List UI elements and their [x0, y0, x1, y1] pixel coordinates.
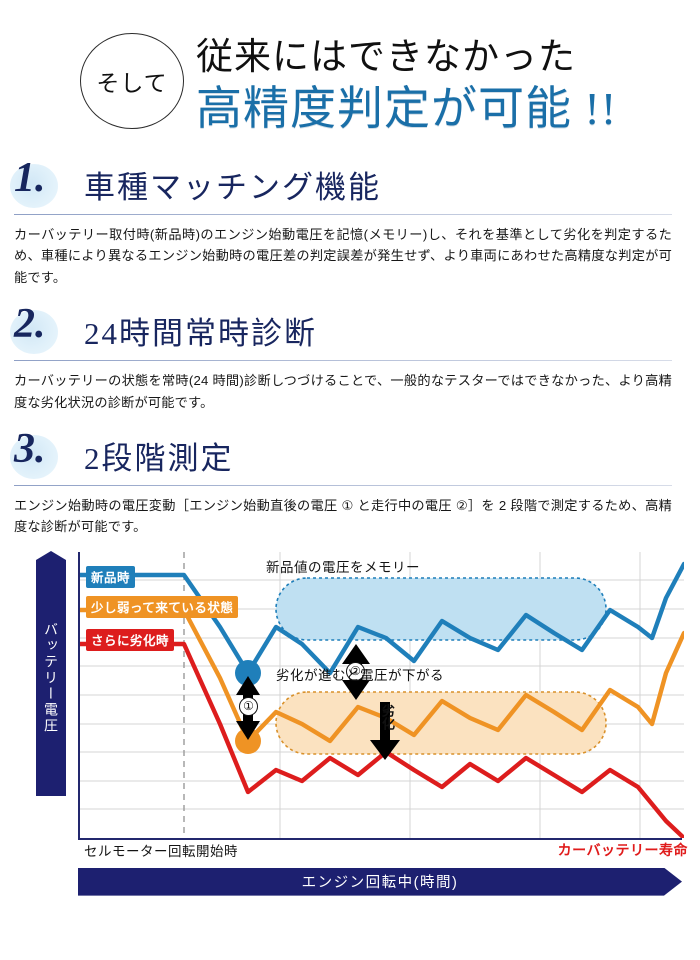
section-2-heading: 2. 24時間常時診断: [0, 306, 686, 358]
battery-life-note: カーバッテリー寿命: [558, 840, 688, 860]
section-3-heading: 3. 2段階測定: [0, 431, 686, 483]
section-3-title: 2段階測定: [84, 433, 234, 478]
feature-section-1: 1. 車種マッチング機能 カーバッテリー取付時(新品時)のエンジン始動電圧を記憶…: [0, 160, 700, 288]
memory-note-text: 新品値の電圧をメモリー: [266, 556, 420, 576]
y-axis-label: バッテリー電圧: [36, 560, 66, 796]
section-2-number-badge: 2.: [6, 304, 80, 356]
legend-label-weak: 少し弱って来ている状態: [86, 596, 238, 618]
page-header: そして 従来にはできなかった 高精度判定が可能 !!: [0, 0, 700, 160]
section-3-body: エンジン始動時の電圧変動［エンジン始動直後の電圧 ① と走行中の電圧 ②］を 2…: [14, 495, 672, 538]
section-1-body: カーバッテリー取付時(新品時)のエンジン始動電圧を記憶(メモリー)し、それを基準…: [14, 224, 672, 288]
feature-section-3: 3. 2段階測定 エンジン始動時の電圧変動［エンジン始動直後の電圧 ① と走行中…: [0, 431, 700, 538]
battery-voltage-chart: バッテリー電圧: [0, 552, 700, 912]
header-badge: そして: [80, 33, 184, 129]
x-axis-label: エンジン回転中(時間): [78, 868, 682, 896]
header-line-2: 高精度判定が可能 !!: [196, 72, 617, 138]
section-1-heading: 1. 車種マッチング機能: [0, 160, 686, 212]
legend-label-degraded: さらに劣化時: [86, 629, 174, 651]
section-3-number: 3.: [14, 425, 46, 473]
section-1-title: 車種マッチング機能: [84, 162, 381, 207]
section-1-divider: [14, 214, 672, 215]
legend-label-new: 新品時: [86, 566, 135, 588]
chart-svg: [80, 552, 684, 838]
section-2-number: 2.: [14, 300, 46, 348]
section-1-number: 1.: [14, 154, 46, 202]
section-3-divider: [14, 485, 672, 486]
stage1-circled-number: ①: [239, 697, 258, 716]
section-1-number-badge: 1.: [6, 158, 80, 210]
section-2-body: カーバッテリーの状態を常時(24 時間)診断しつづけることで、一般的なテスターで…: [14, 370, 672, 413]
starter-motor-note: セルモーター回転開始時: [84, 840, 238, 860]
chart-plot-area: 新品時 少し弱って来ている状態 さらに劣化時 新品値の電圧をメモリー ① ② 劣…: [78, 552, 682, 840]
section-2-title: 24時間常時診断: [84, 308, 317, 353]
feature-section-2: 2. 24時間常時診断 カーバッテリーの状態を常時(24 時間)診断しつづけるこ…: [0, 306, 700, 413]
new-voltage-band: [276, 578, 606, 640]
section-2-divider: [14, 360, 672, 361]
degrade-note-text: 劣化が進むと電圧が下がる: [276, 664, 444, 684]
section-3-number-badge: 3.: [6, 429, 80, 481]
degradation-arrow-label: 劣化: [378, 704, 397, 730]
